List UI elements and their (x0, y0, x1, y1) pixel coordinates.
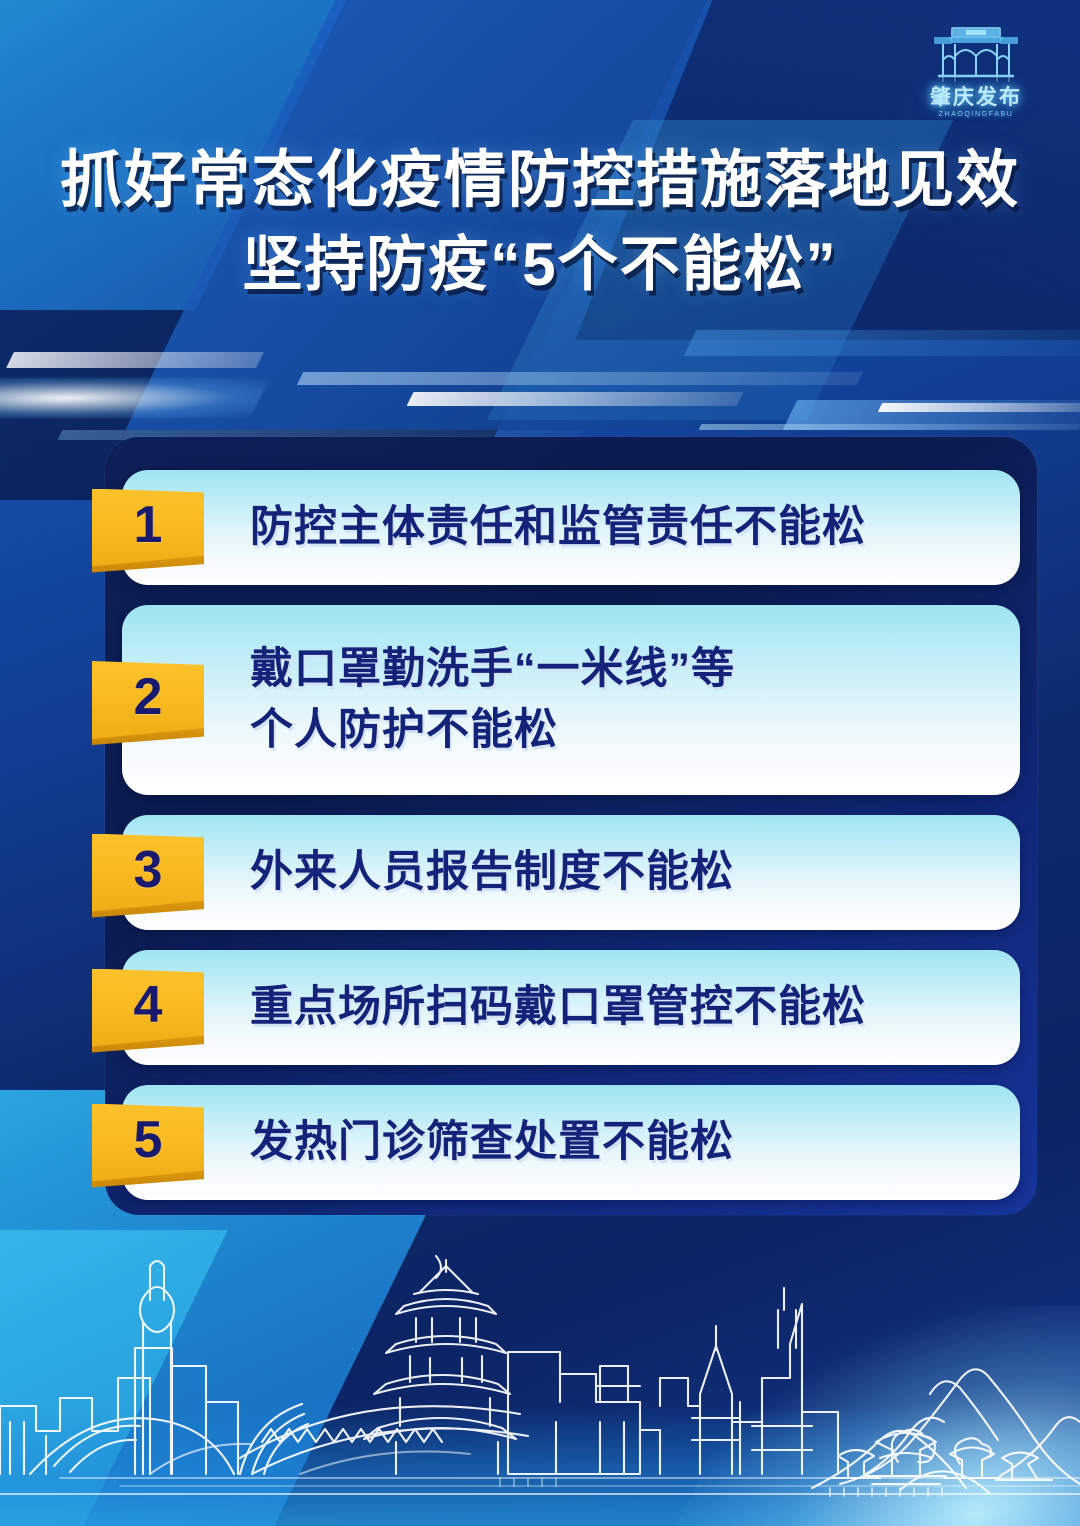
bg-light-streak (407, 392, 744, 406)
item-number: 3 (134, 844, 163, 896)
item-text-line: 外来人员报告制度不能松 (250, 842, 734, 903)
bg-light-streak (878, 403, 1080, 412)
list-item: 1 防控主体责任和监管责任不能松 (122, 470, 1020, 585)
item-text-line: 发热门诊筛查处置不能松 (250, 1112, 734, 1173)
item-text-line: 戴口罩勤洗手“一米线”等 (250, 639, 735, 700)
bg-light-streak (297, 372, 863, 385)
logo-name-cn: 肇庆发布 (916, 87, 1036, 109)
item-number: 1 (134, 499, 163, 551)
list-item: 3 外来人员报告制度不能松 (122, 815, 1020, 930)
logo-name-en: ZHAOQINGFABU (916, 111, 1036, 118)
list-item: 2 戴口罩勤洗手“一米线”等 个人防护不能松 (122, 605, 1020, 795)
item-number-badge: 2 (92, 661, 204, 739)
brand-logo: 肇庆发布 ZHAOQINGFABU (916, 24, 1036, 118)
item-text: 防控主体责任和监管责任不能松 (250, 497, 866, 558)
item-text-line: 重点场所扫码戴口罩管控不能松 (250, 977, 866, 1038)
archway-gate-icon (922, 24, 1030, 86)
bg-light-glow (0, 378, 270, 418)
skyline-svg (0, 1226, 1080, 1526)
list-item: 5 发热门诊筛查处置不能松 (122, 1085, 1020, 1200)
item-text-line: 防控主体责任和监管责任不能松 (250, 497, 866, 558)
title-line-1: 抓好常态化疫情防控措施落地见效 (0, 138, 1080, 224)
item-text: 重点场所扫码戴口罩管控不能松 (250, 977, 866, 1038)
list-item: 4 重点场所扫码戴口罩管控不能松 (122, 950, 1020, 1065)
item-number: 2 (134, 671, 163, 723)
item-text-line: 个人防护不能松 (250, 700, 735, 761)
measures-list: 1 防控主体责任和监管责任不能松 2 戴口罩勤洗手“一米线”等 个人防护不能松 … (122, 470, 1020, 1220)
item-number-badge: 4 (92, 969, 204, 1047)
item-number: 5 (134, 1114, 163, 1166)
poster-title: 抓好常态化疫情防控措施落地见效 坚持防疫“5个不能松” (0, 138, 1080, 306)
bg-light-streak (6, 352, 264, 368)
item-text: 发热门诊筛查处置不能松 (250, 1112, 734, 1173)
item-text: 戴口罩勤洗手“一米线”等 个人防护不能松 (250, 639, 735, 761)
item-text: 外来人员报告制度不能松 (250, 842, 734, 903)
city-skyline-illustration (0, 1226, 1080, 1526)
bg-light-streak (699, 424, 1080, 430)
item-number-badge: 1 (92, 489, 204, 567)
item-number-badge: 3 (92, 834, 204, 912)
item-number-badge: 5 (92, 1104, 204, 1182)
poster-root: 肇庆发布 ZHAOQINGFABU 抓好常态化疫情防控措施落地见效 坚持防疫“5… (0, 0, 1080, 1526)
bg-light-streak (684, 330, 1080, 356)
title-line-2: 坚持防疫“5个不能松” (0, 224, 1080, 307)
item-number: 4 (134, 979, 163, 1031)
